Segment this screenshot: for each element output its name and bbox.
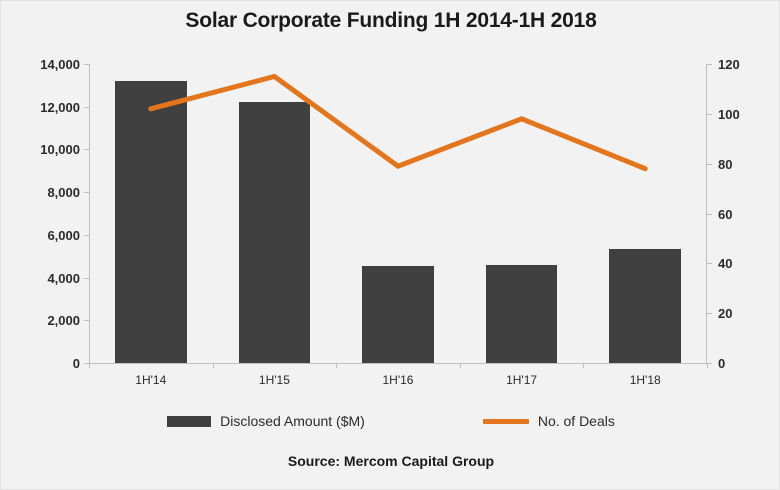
- legend-item-no-of-deals[interactable]: No. of Deals: [483, 413, 615, 429]
- chart-title: Solar Corporate Funding 1H 2014-1H 2018: [1, 9, 780, 33]
- left-axis-tick-label: 12,000: [40, 101, 80, 114]
- right-axis-tick-label: 80: [718, 158, 732, 171]
- category-label-2: 1H'16: [336, 374, 460, 386]
- category-label-1: 1H'15: [213, 374, 337, 386]
- right-axis-tick-label: 120: [718, 58, 740, 71]
- line-swatch-icon: [483, 419, 529, 424]
- right-axis-tick-label: 20: [718, 307, 732, 320]
- left-axis-tick-label: 0: [73, 357, 80, 370]
- left-axis-tick-label: 4,000: [47, 272, 80, 285]
- left-axis-tick-label: 8,000: [47, 186, 80, 199]
- legend-label-no-of-deals: No. of Deals: [538, 413, 615, 429]
- category-label-3: 1H'17: [460, 374, 584, 386]
- category-label-4: 1H'18: [583, 374, 707, 386]
- category-label-0: 1H'14: [89, 374, 213, 386]
- right-axis-tick-label: 0: [718, 357, 725, 370]
- left-axis-tick-label: 10,000: [40, 143, 80, 156]
- category-axis-tick: [707, 363, 708, 368]
- source-note: Source: Mercom Capital Group: [1, 453, 780, 469]
- chart-container: Solar Corporate Funding 1H 2014-1H 2018 …: [0, 0, 780, 490]
- plot-area: 02,0004,0006,0008,00010,00012,00014,000 …: [89, 64, 707, 363]
- legend-item-disclosed-amount[interactable]: Disclosed Amount ($M): [167, 413, 365, 429]
- left-axis-tick-label: 6,000: [47, 229, 80, 242]
- chart-legend: Disclosed Amount ($M) No. of Deals: [1, 413, 780, 429]
- no-of-deals-polyline: [151, 77, 645, 169]
- legend-label-disclosed-amount: Disclosed Amount ($M): [220, 413, 365, 429]
- right-axis-tick-label: 100: [718, 108, 740, 121]
- right-axis-tick-label: 60: [718, 208, 732, 221]
- left-axis-tick-label: 2,000: [47, 314, 80, 327]
- left-axis-tick-label: 14,000: [40, 58, 80, 71]
- line-series: [89, 56, 707, 371]
- right-axis-tick-label: 40: [718, 257, 732, 270]
- bar-swatch-icon: [167, 416, 211, 427]
